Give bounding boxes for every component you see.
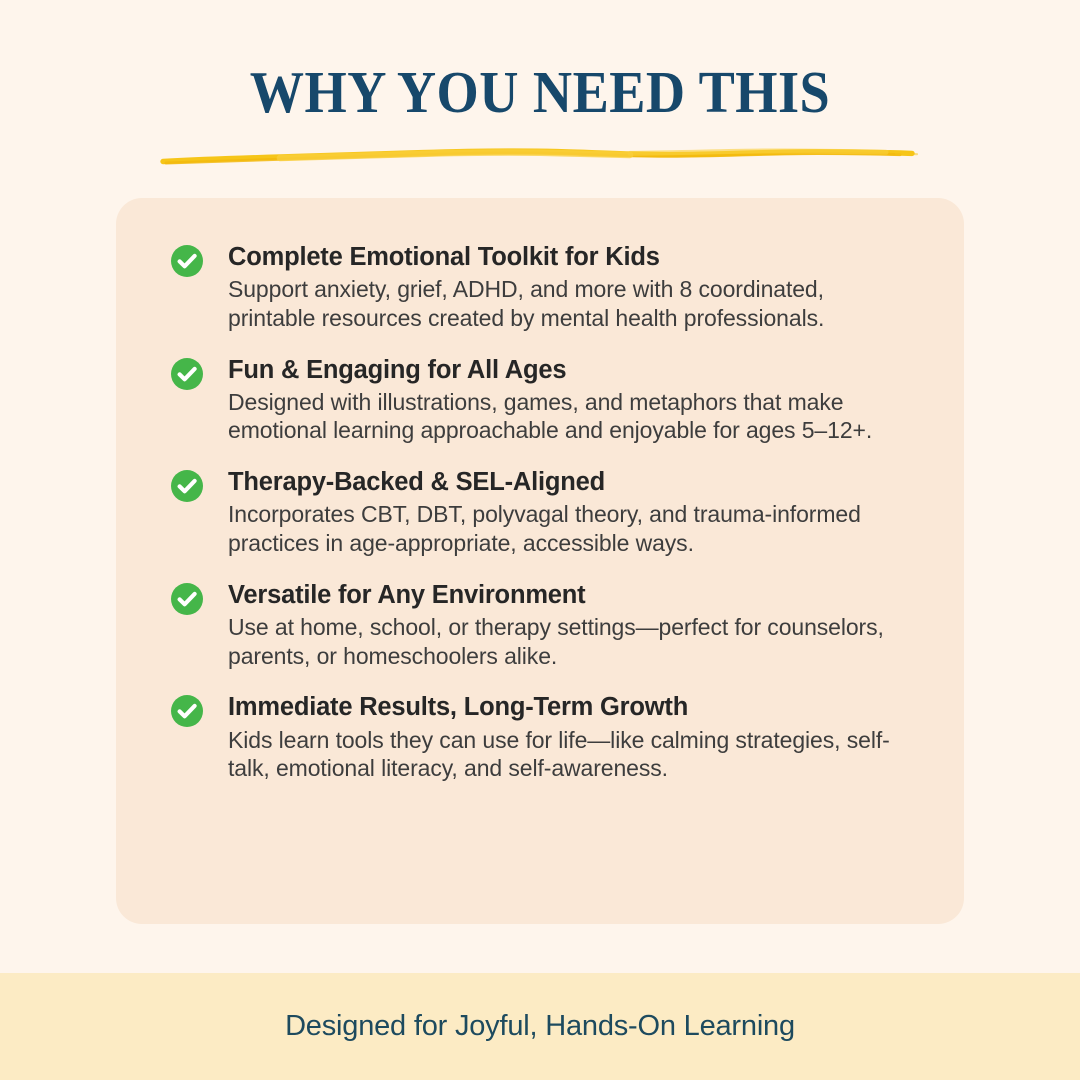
list-item: Complete Emotional Toolkit for Kids Supp… <box>170 242 910 333</box>
list-item: Versatile for Any Environment Use at hom… <box>170 580 910 671</box>
benefit-description: Use at home, school, or therapy settings… <box>228 613 910 671</box>
list-item: Therapy-Backed & SEL-Aligned Incorporate… <box>170 467 910 558</box>
benefit-title: Fun & Engaging for All Ages <box>228 355 910 386</box>
benefit-title: Immediate Results, Long-Term Growth <box>228 692 910 723</box>
benefit-title: Complete Emotional Toolkit for Kids <box>228 242 910 273</box>
green-check-circle-icon <box>170 694 204 728</box>
benefits-card: Complete Emotional Toolkit for Kids Supp… <box>116 198 964 924</box>
benefit-title: Versatile for Any Environment <box>228 580 910 611</box>
footer-banner: Designed for Joyful, Hands-On Learning <box>0 973 1080 1080</box>
benefit-list: Complete Emotional Toolkit for Kids Supp… <box>170 242 910 783</box>
benefit-description: Designed with illustrations, games, and … <box>228 388 910 446</box>
benefit-description: Incorporates CBT, DBT, polyvagal theory,… <box>228 500 910 558</box>
list-item: Immediate Results, Long-Term Growth Kids… <box>170 692 910 783</box>
green-check-circle-icon <box>170 244 204 278</box>
benefit-description: Support anxiety, grief, ADHD, and more w… <box>228 275 910 333</box>
benefit-description: Kids learn tools they can use for life—l… <box>228 726 910 784</box>
benefit-title: Therapy-Backed & SEL-Aligned <box>228 467 910 498</box>
title-underline <box>0 138 1080 170</box>
green-check-circle-icon <box>170 582 204 616</box>
green-check-circle-icon <box>170 469 204 503</box>
header: WHY YOU NEED THIS <box>0 0 1080 170</box>
green-check-circle-icon <box>170 357 204 391</box>
list-item: Fun & Engaging for All Ages Designed wit… <box>170 355 910 446</box>
brush-underline-icon <box>160 140 920 168</box>
footer-tagline: Designed for Joyful, Hands-On Learning <box>285 1010 795 1043</box>
page-title: WHY YOU NEED THIS <box>43 62 1037 124</box>
